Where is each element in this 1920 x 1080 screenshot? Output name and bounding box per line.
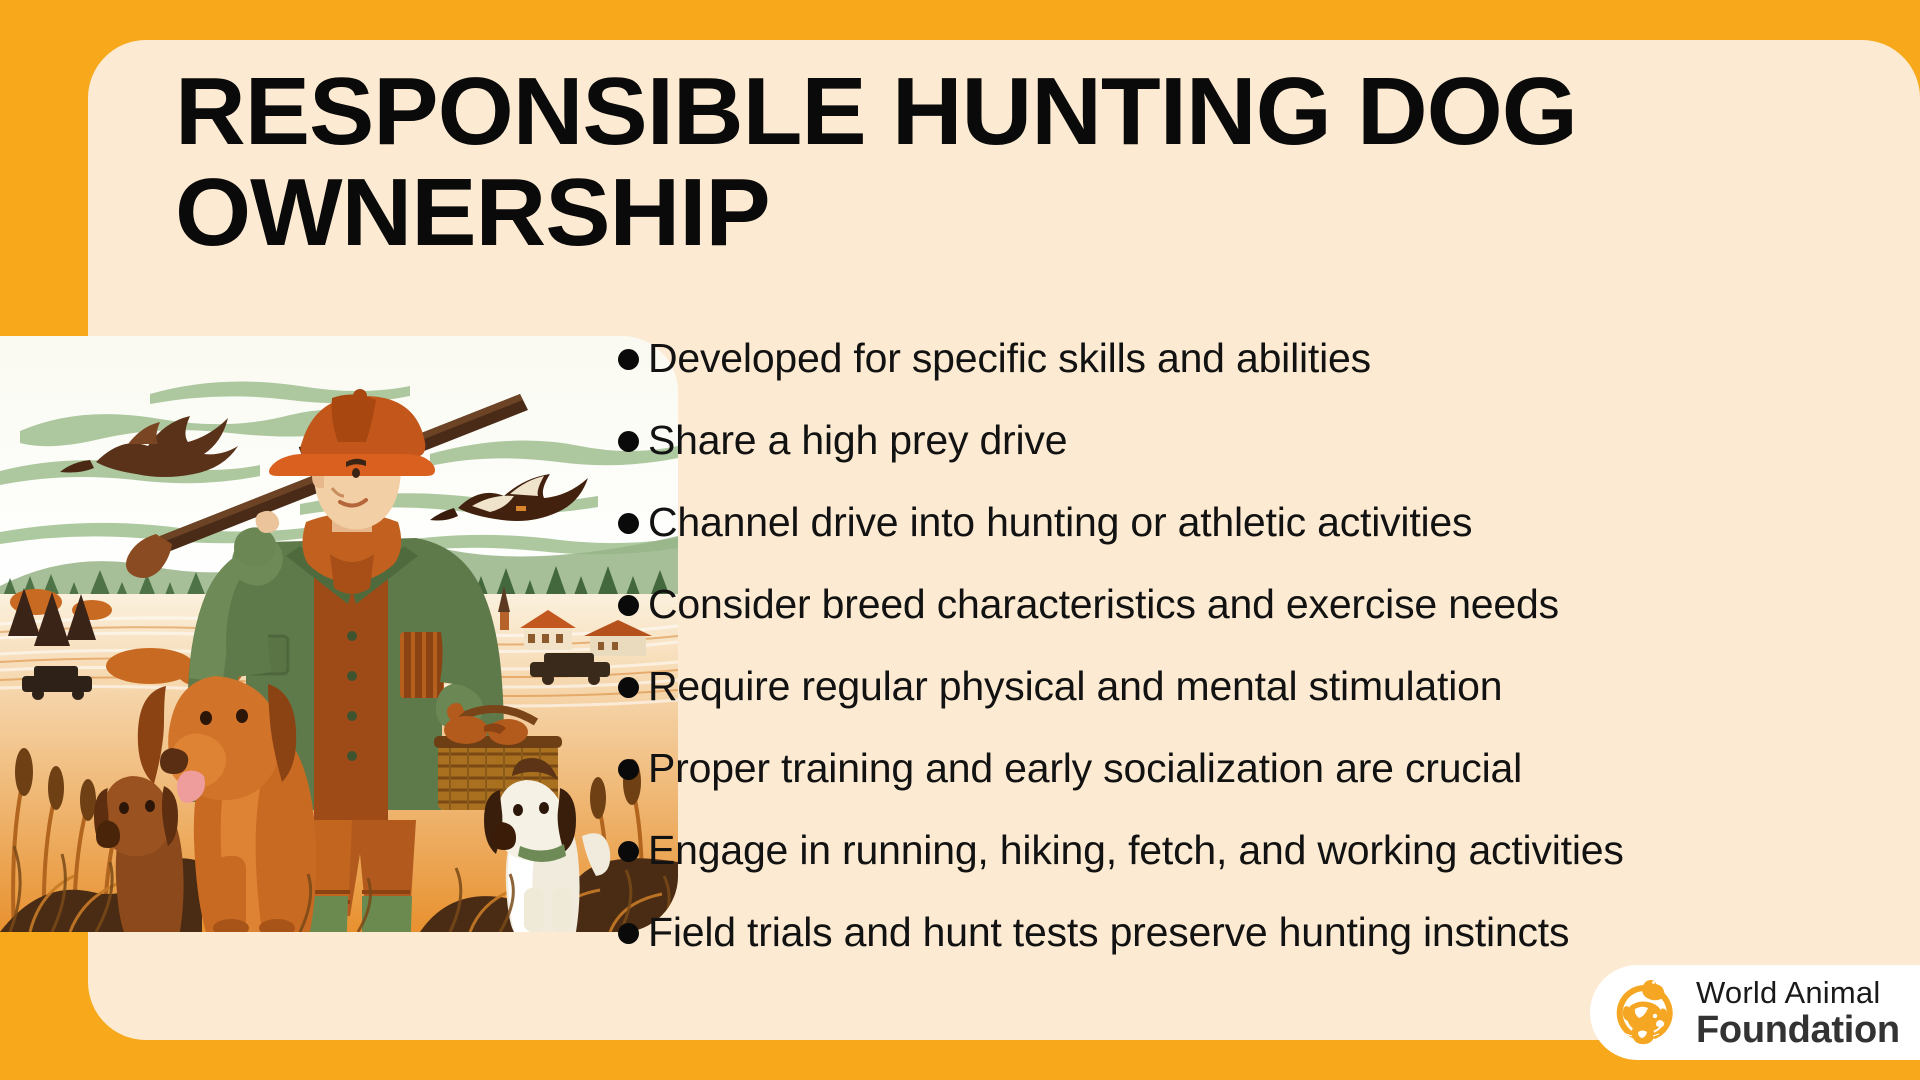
bullet-dot-icon (618, 349, 639, 370)
hunter-illustration (0, 336, 678, 932)
world-animal-foundation-logo[interactable]: World Animal Foundation (1590, 965, 1920, 1060)
list-item: Share a high prey drive (618, 414, 1918, 496)
bullet-dot-icon (618, 595, 639, 616)
logo-wordmark: World Animal Foundation (1696, 977, 1900, 1049)
logo-line-world-animal: World Animal (1696, 977, 1900, 1008)
animal-circle-logo-art (1608, 976, 1682, 1050)
list-item: Engage in running, hiking, fetch, and wo… (618, 824, 1918, 906)
list-item-label: Field trials and hunt tests preserve hun… (648, 906, 1569, 958)
hunter-illustration-art (0, 336, 678, 932)
list-item: Channel drive into hunting or athletic a… (618, 496, 1918, 578)
bullet-dot-icon (618, 431, 639, 452)
list-item-label: Channel drive into hunting or athletic a… (648, 496, 1472, 548)
list-item-label: Consider breed characteristics and exerc… (648, 578, 1559, 630)
bullet-dot-icon (618, 677, 639, 698)
list-item: Proper training and early socialization … (618, 742, 1918, 824)
page-title: RESPONSIBLE HUNTING DOG OWNERSHIP (175, 62, 1827, 264)
bullet-dot-icon (618, 841, 639, 862)
list-item-label: Engage in running, hiking, fetch, and wo… (648, 824, 1624, 876)
list-item-label: Share a high prey drive (648, 414, 1067, 466)
list-item-label: Require regular physical and mental stim… (648, 660, 1502, 712)
logo-line-foundation: Foundation (1696, 1011, 1900, 1049)
list-item: Require regular physical and mental stim… (618, 660, 1918, 742)
list-item: Consider breed characteristics and exerc… (618, 578, 1918, 660)
bullet-dot-icon (618, 923, 639, 944)
list-item-label: Developed for specific skills and abilit… (648, 332, 1371, 384)
list-item: Developed for specific skills and abilit… (618, 332, 1918, 414)
animal-circle-logo-icon (1608, 976, 1682, 1050)
bullet-dot-icon (618, 759, 639, 780)
content-card: RESPONSIBLE HUNTING DOG OWNERSHIP (88, 40, 1920, 1040)
bullet-dot-icon (618, 513, 639, 534)
list-item-label: Proper training and early socialization … (648, 742, 1522, 794)
ownership-tips-list: Developed for specific skills and abilit… (618, 332, 1918, 988)
